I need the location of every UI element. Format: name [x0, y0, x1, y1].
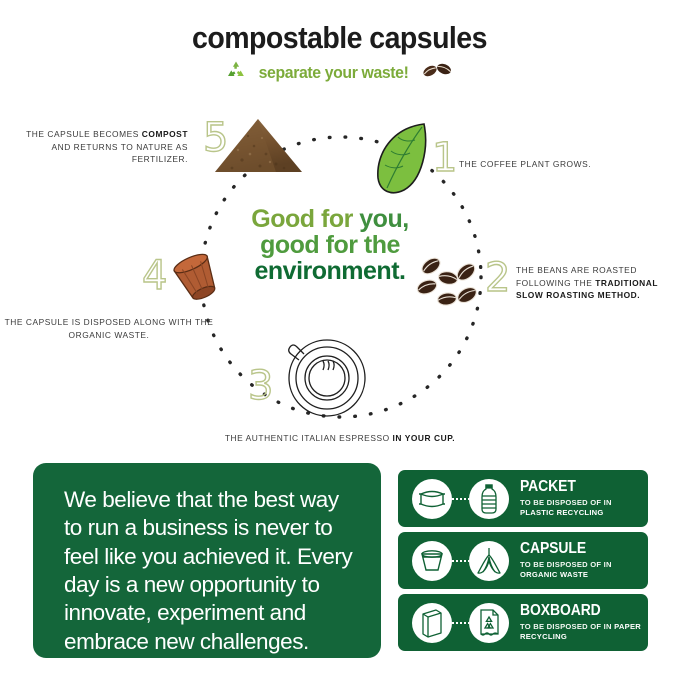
capsule-sub-bold: ORGANIC WASTE: [520, 570, 588, 579]
step-2-node: 2: [414, 250, 494, 325]
step-3-caption-bold: IN YOUR CUP.: [393, 433, 456, 443]
plastic-bottle-icon: [469, 479, 509, 519]
leaf-icon: [374, 120, 432, 198]
sachet-packet-icon: [412, 479, 452, 519]
packet-title: PACKET: [520, 479, 635, 495]
step-5-caption: THE CAPSULE BECOMES COMPOST AND RETURNS …: [8, 128, 188, 166]
step-4-caption-text: THE CAPSULE IS DISPOSED ALONG WITH THE O…: [5, 317, 214, 340]
espresso-cup-icon: [283, 336, 367, 420]
slogan-line1-b: you,: [359, 205, 408, 233]
banana-peel-icon: [469, 541, 509, 581]
infographic-root: compostable capsules separate your waste…: [0, 0, 679, 679]
step-1-caption: THE COFFEE PLANT GROWS.: [459, 158, 629, 171]
coffee-beans-icon: [414, 250, 494, 320]
step-5-number: 5: [203, 118, 228, 158]
quote-text: We believe that the best way to run a bu…: [64, 486, 356, 656]
capsule-text-block: CAPSULE TO BE DISPOSED OF IN ORGANIC WAS…: [520, 541, 648, 579]
disposal-card-capsule[interactable]: CAPSULE TO BE DISPOSED OF IN ORGANIC WAS…: [398, 532, 648, 589]
packet-text-block: PACKET TO BE DISPOSED OF IN PLASTIC RECY…: [520, 479, 648, 517]
boxboard-sub-plain: TO BE DISPOSED OF IN: [520, 622, 614, 631]
step-4-caption: THE CAPSULE IS DISPOSED ALONG WITH THE O…: [4, 316, 214, 341]
step-1-node: 1: [374, 120, 432, 203]
connector-dots: [452, 560, 469, 562]
step-5-node: 5: [210, 116, 306, 183]
quote-card: We believe that the best way to run a bu…: [33, 463, 381, 658]
packet-subtitle: TO BE DISPOSED OF IN PLASTIC RECYCLING: [520, 498, 648, 518]
step-5-caption-plain-1: THE CAPSULE BECOMES: [26, 129, 142, 139]
coffee-capsule-icon: [166, 250, 230, 310]
step-1-number: 1: [432, 138, 457, 178]
coffee-beans-icon: [420, 60, 454, 85]
step-4-number: 4: [142, 256, 167, 296]
center-slogan: Good for you, good for the environment.: [232, 206, 428, 284]
step-3-number: 3: [248, 366, 273, 406]
recycle-icon: [225, 60, 247, 85]
capsule-sub-plain: TO BE DISPOSED OF IN: [520, 560, 612, 569]
slogan-line1-a: Good for: [251, 205, 359, 233]
step-5-caption-plain-2: AND RETURNS TO NATURE AS FERTILIZER.: [51, 142, 188, 165]
packet-sub-bold: PLASTIC RECYCLING: [520, 508, 604, 517]
boxboard-subtitle: TO BE DISPOSED OF IN PAPER RECYCLING: [520, 622, 648, 642]
capsule-subtitle: TO BE DISPOSED OF IN ORGANIC WASTE: [520, 560, 648, 580]
capsule-title: CAPSULE: [520, 541, 635, 557]
subtitle-text: separate your waste!: [259, 63, 409, 83]
boxboard-title: BOXBOARD: [520, 603, 635, 619]
connector-dots: [452, 622, 469, 624]
step-2-caption: THE BEANS ARE ROASTED FOLLOWING THE TRAD…: [516, 264, 676, 302]
step-3-caption-plain: THE AUTHENTIC ITALIAN ESPRESSO: [225, 433, 393, 443]
header: compostable capsules separate your waste…: [0, 22, 679, 85]
paper-recycle-icon: [469, 603, 509, 643]
step-1-caption-text: THE COFFEE PLANT GROWS.: [459, 159, 591, 169]
step-4-node: 4: [166, 250, 230, 315]
step-3-node: 3: [283, 336, 367, 425]
step-3-caption: THE AUTHENTIC ITALIAN ESPRESSO IN YOUR C…: [160, 432, 520, 445]
page-title: compostable capsules: [27, 22, 652, 53]
step-5-caption-bold: COMPOST: [142, 129, 188, 139]
subtitle-row: separate your waste!: [0, 60, 679, 85]
boxboard-text-block: BOXBOARD TO BE DISPOSED OF IN PAPER RECY…: [520, 603, 648, 641]
carton-box-icon: [412, 603, 452, 643]
lifecycle-diagram: Good for you, good for the environment. …: [0, 100, 679, 455]
packet-sub-plain: TO BE DISPOSED OF IN: [520, 498, 612, 507]
coffee-capsule-icon: [412, 541, 452, 581]
disposal-card-boxboard[interactable]: BOXBOARD TO BE DISPOSED OF IN PAPER RECY…: [398, 594, 648, 651]
slogan-line2: good for the: [232, 232, 428, 258]
connector-dots: [452, 498, 469, 500]
step-2-number: 2: [485, 258, 510, 298]
slogan-line3: environment.: [232, 258, 428, 284]
disposal-card-packet[interactable]: PACKET TO BE DISPOSED OF IN PLASTIC RECY…: [398, 470, 648, 527]
